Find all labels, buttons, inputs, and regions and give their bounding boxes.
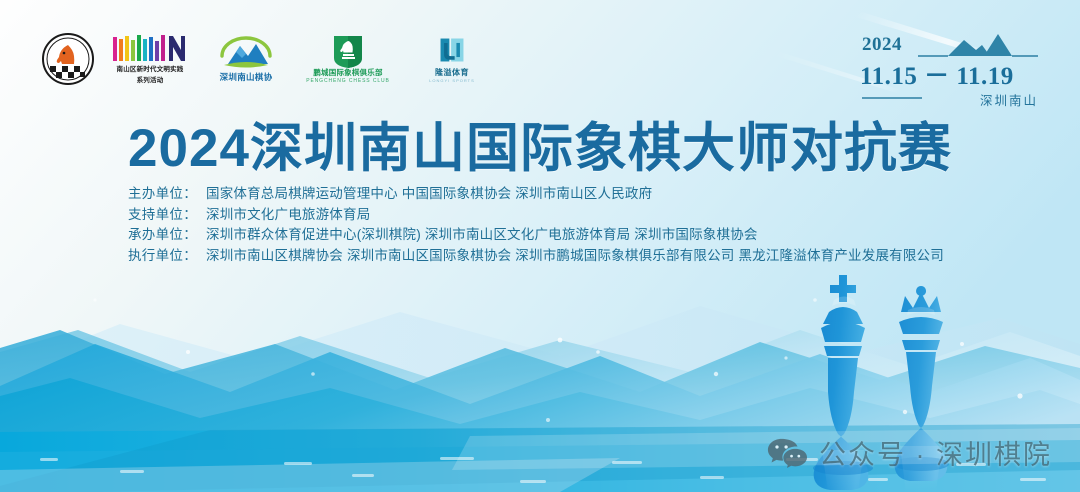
logo-shenzhen-nanshan-chess-association: 深圳南山棋协 [210,36,282,82]
logo-caption: 隆溢体育 [435,68,469,78]
date-underline [862,96,922,100]
logo-caption-2: 系列活动 [137,77,164,85]
logo-caption: 鹏城国际象棋俱乐部 [313,68,382,77]
knight-circle-icon [42,33,94,85]
credit-value: 深圳市文化广电旅游体育局 [206,205,370,226]
wechat-icon [767,437,807,468]
credit-label: 承办单位： [128,225,197,246]
credit-line: 执行单位： 深圳市南山区棋牌协会 深圳市南山区国际象棋协会 深圳市鹏城国际象棋俱… [128,246,944,267]
logo-longyi-sports: 隆溢体育 LONGYI SPORTS [416,35,488,84]
poster-banner: 南山区新时代文明实践 系列活动 深圳南山棋协 鹏城国际象棋俱乐部 PE [0,0,1080,492]
credit-line: 主办单位： 国家体育总局棋牌运动管理中心 中国国际象棋协会 深圳市南山区人民政府 [128,184,944,205]
credit-label: 执行单位： [128,246,197,267]
watermark-text: 公众号 · 深圳棋院 [819,433,1052,472]
sponsor-logo-row: 南山区新时代文明实践 系列活动 深圳南山棋协 鹏城国际象棋俱乐部 PE [42,28,488,90]
mountain-arc-icon [216,36,276,70]
green-shield-knight-icon [328,34,368,68]
credit-label: 支持单位： [128,205,197,226]
credit-value: 深圳市南山区棋牌协会 深圳市南山区国际象棋协会 深圳市鹏城国际象棋俱乐部有限公司… [206,246,944,267]
rainbow-bars-n-icon [112,33,188,63]
logo-sub-caption: LONGYI SPORTS [429,78,475,84]
logo-caption: 深圳南山棋协 [220,72,273,82]
logo-sub-caption: PENGCHENG CHESS CLUB [306,78,390,85]
credit-value: 国家体育总局棋牌运动管理中心 中国国际象棋协会 深圳市南山区人民政府 [206,184,652,205]
page-title: 2024深圳南山国际象棋大师对抗赛 [0,106,1080,182]
credit-label: 主办单位： [128,184,197,205]
credits-block: 主办单位： 国家体育总局棋牌运动管理中心 中国国际象棋协会 深圳市南山区人民政府… [128,184,944,266]
logo-nanshan-civilization: 南山区新时代文明实践 系列活动 [110,33,190,85]
credit-line: 承办单位： 深圳市群众体育促进中心(深圳棋院) 深圳市南山区文化广电旅游体育局 … [128,225,944,246]
watermark: 公众号 · 深圳棋院 [767,433,1052,472]
logo-chess-association-emblem [42,33,94,85]
teal-book-l-icon [437,35,467,65]
date-range: 11.15 － 11.19 [860,56,1014,92]
credit-line: 支持单位： 深圳市文化广电旅游体育局 [128,205,944,226]
logo-pengcheng-chess-club: 鹏城国际象棋俱乐部 PENGCHENG CHESS CLUB [302,34,394,85]
date-year: 2024 [862,34,902,56]
credit-value: 深圳市群众体育促进中心(深圳棋院) 深圳市南山区文化广电旅游体育局 深圳市国际象… [206,225,758,246]
logo-caption: 南山区新时代文明实践 [117,66,184,74]
